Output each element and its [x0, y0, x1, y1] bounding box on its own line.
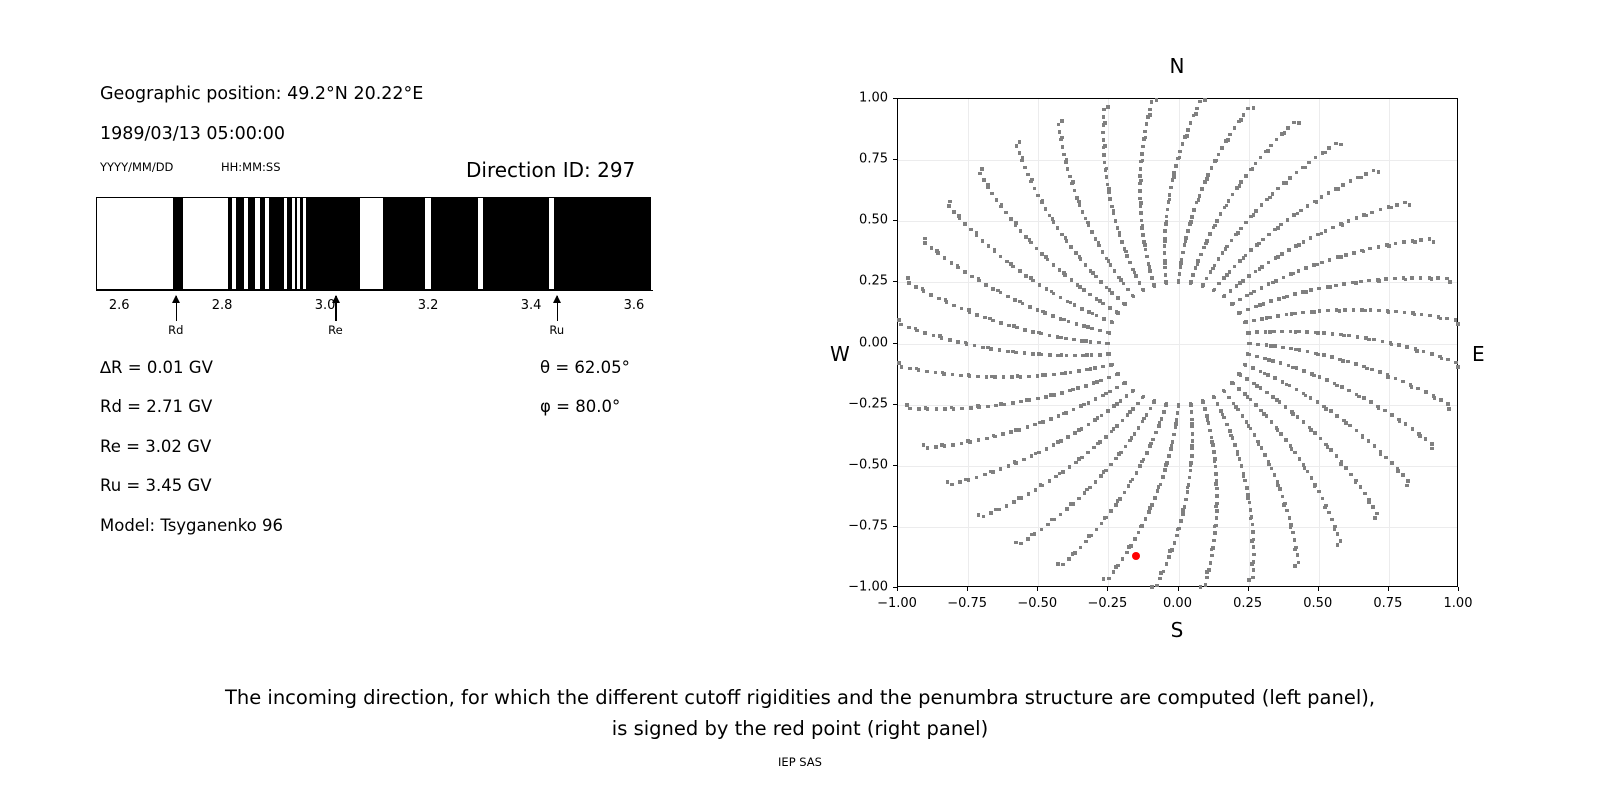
x-axis-tick-label: 0.00: [1163, 596, 1192, 611]
arrow-up-icon: [553, 295, 561, 303]
x-axis-tick-mark: [1318, 587, 1319, 591]
cutoff-marker-label: Re: [328, 323, 343, 337]
x-axis-tick-mark: [1458, 587, 1459, 591]
x-axis: −1.00−0.75−0.50−0.250.000.250.500.751.00: [790, 40, 1590, 660]
parameter-text: φ = 80.0°: [540, 397, 620, 416]
x-axis-tick-mark: [1178, 587, 1179, 591]
x-axis-tick-label: 0.75: [1373, 596, 1402, 611]
left-panel: Geographic position: 49.2°N 20.22°E 1989…: [0, 0, 760, 660]
x-axis-tick-mark: [1388, 587, 1389, 591]
direction-map-panel: N S W E −1.00−0.75−0.50−0.250.000.250.50…: [790, 40, 1590, 660]
arrow-up-icon: [332, 295, 340, 303]
x-axis-tick-label: −0.50: [1017, 596, 1057, 611]
x-axis-tick-mark: [1248, 587, 1249, 591]
x-axis-tick-label: −0.25: [1087, 596, 1127, 611]
x-axis-tick-mark: [897, 587, 898, 591]
parameter-text: θ = 62.05°: [540, 358, 630, 377]
caption-line-1: The incoming direction, for which the di…: [0, 682, 1600, 713]
parameter-text: Rd = 2.71 GV: [100, 397, 212, 416]
x-axis-tick-label: 1.00: [1444, 596, 1473, 611]
parameter-text: Ru = 3.45 GV: [100, 476, 212, 495]
x-axis-tick-label: 0.25: [1233, 596, 1262, 611]
parameter-text: Re = 3.02 GV: [100, 437, 211, 456]
caption-line-2: is signed by the red point (right panel): [0, 713, 1600, 744]
cutoff-marker-label: Ru: [549, 323, 564, 337]
x-axis-tick-mark: [1037, 587, 1038, 591]
x-axis-tick-mark: [967, 587, 968, 591]
x-axis-tick-mark: [1107, 587, 1108, 591]
x-axis-tick-label: −0.75: [947, 596, 987, 611]
x-axis-tick-label: 0.50: [1303, 596, 1332, 611]
parameter-text: ∆R = 0.01 GV: [100, 358, 213, 377]
x-axis-tick-label: −1.00: [877, 596, 917, 611]
figure-caption: The incoming direction, for which the di…: [0, 682, 1600, 744]
parameter-text: Model: Tsyganenko 96: [100, 516, 283, 535]
cutoff-marker-label: Rd: [168, 323, 183, 337]
arrow-up-icon: [172, 295, 180, 303]
footer-credit: IEP SAS: [0, 755, 1600, 769]
parameter-list-right: θ = 62.05°φ = 80.0°: [0, 0, 760, 120]
